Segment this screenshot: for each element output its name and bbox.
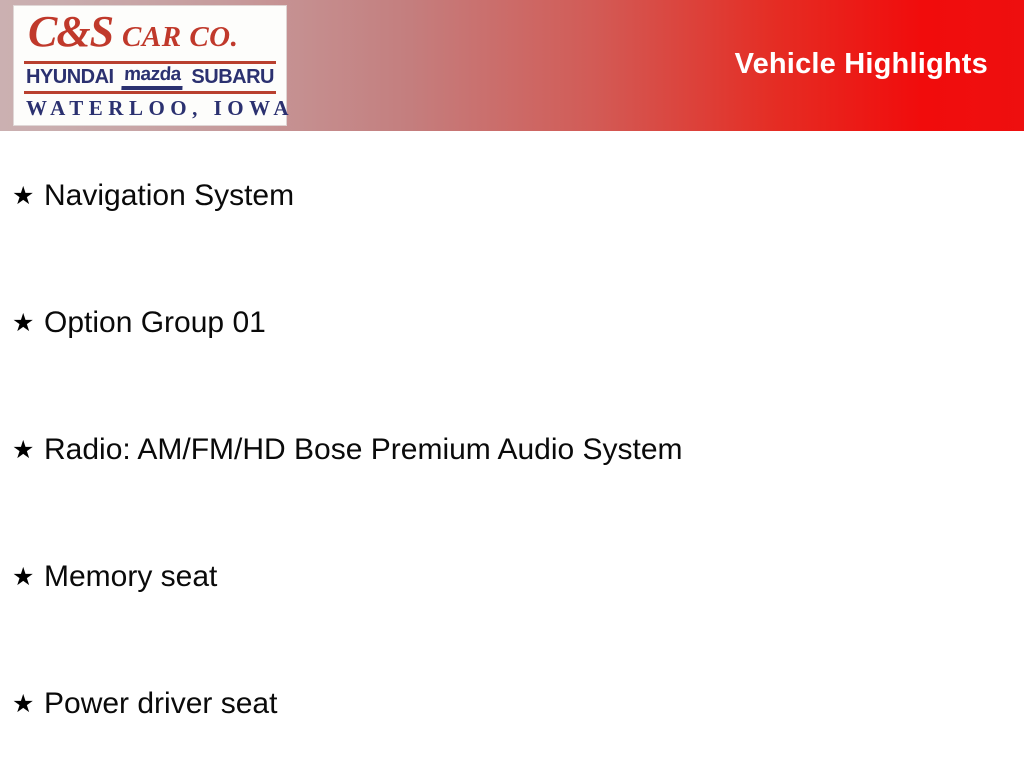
highlight-item: ★Radio: AM/FM/HD Bose Premium Audio Syst… bbox=[12, 433, 683, 467]
dealer-logo: C&S CAR CO. HYUNDAI mazda SUBARU WATERLO… bbox=[14, 6, 286, 125]
logo-brands-row: HYUNDAI mazda SUBARU bbox=[22, 64, 278, 90]
page-title: Vehicle Highlights bbox=[735, 48, 988, 81]
logo-carco-text: CAR CO. bbox=[122, 23, 238, 52]
brand-mazda: mazda bbox=[122, 65, 184, 90]
logo-initials: C&S bbox=[28, 10, 113, 54]
highlight-item: ★Power driver seat bbox=[12, 687, 277, 721]
star-icon: ★ bbox=[12, 565, 44, 590]
highlights-list: ★Navigation System★Option Group 01★Radio… bbox=[0, 131, 1024, 768]
star-icon: ★ bbox=[12, 438, 44, 463]
highlight-item: ★Memory seat bbox=[12, 560, 217, 594]
brand-hyundai: HYUNDAI bbox=[26, 67, 114, 87]
highlight-label: Power driver seat bbox=[44, 687, 277, 721]
brand-subaru: SUBARU bbox=[191, 67, 274, 87]
star-icon: ★ bbox=[12, 692, 44, 717]
highlight-item: ★Option Group 01 bbox=[12, 306, 266, 340]
logo-location: WATERLOO, IOWA bbox=[22, 94, 278, 120]
star-icon: ★ bbox=[12, 184, 44, 209]
highlight-item: ★Navigation System bbox=[12, 179, 294, 213]
highlight-label: Memory seat bbox=[44, 560, 217, 594]
logo-wordmark: C&S CAR CO. bbox=[22, 10, 278, 60]
vehicle-highlights-slide: Vehicle Highlights C&S CAR CO. HYUNDAI m… bbox=[0, 0, 1024, 768]
highlight-label: Radio: AM/FM/HD Bose Premium Audio Syste… bbox=[44, 433, 683, 467]
highlight-label: Navigation System bbox=[44, 179, 294, 213]
star-icon: ★ bbox=[12, 311, 44, 336]
highlight-label: Option Group 01 bbox=[44, 306, 266, 340]
